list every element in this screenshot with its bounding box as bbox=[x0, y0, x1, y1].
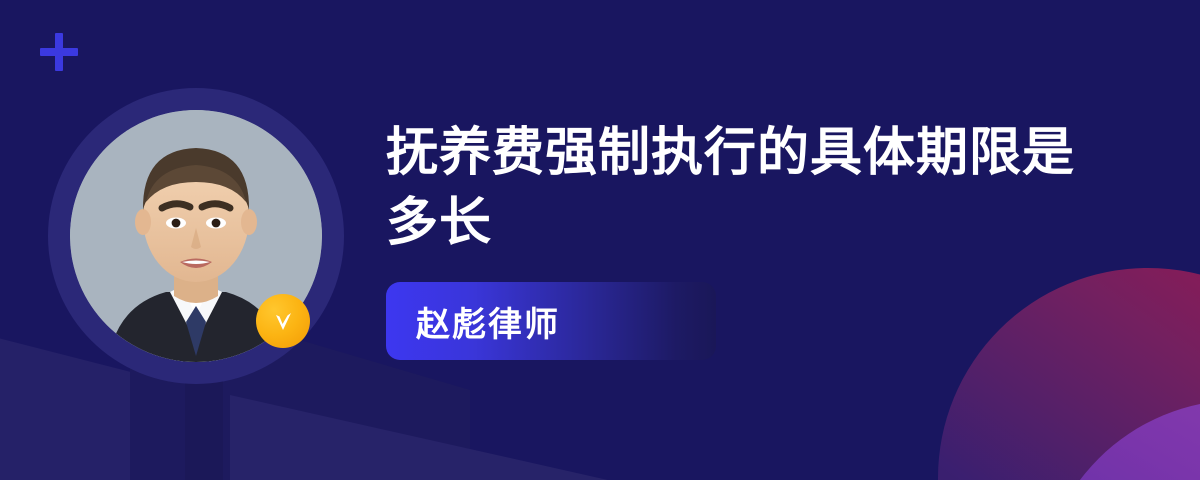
avatar[interactable] bbox=[48, 88, 344, 384]
lawyer-name-button[interactable]: 赵彪律师 bbox=[386, 282, 716, 360]
page-title: 抚养费强制执行的具体期限是多长 bbox=[386, 118, 1086, 258]
banner-content: 抚养费强制执行的具体期限是多长 赵彪律师 bbox=[386, 118, 1086, 360]
verified-check-icon bbox=[256, 294, 310, 348]
plus-icon bbox=[40, 33, 78, 71]
lawyer-qa-banner: 抚养费强制执行的具体期限是多长 赵彪律师 bbox=[0, 0, 1200, 480]
